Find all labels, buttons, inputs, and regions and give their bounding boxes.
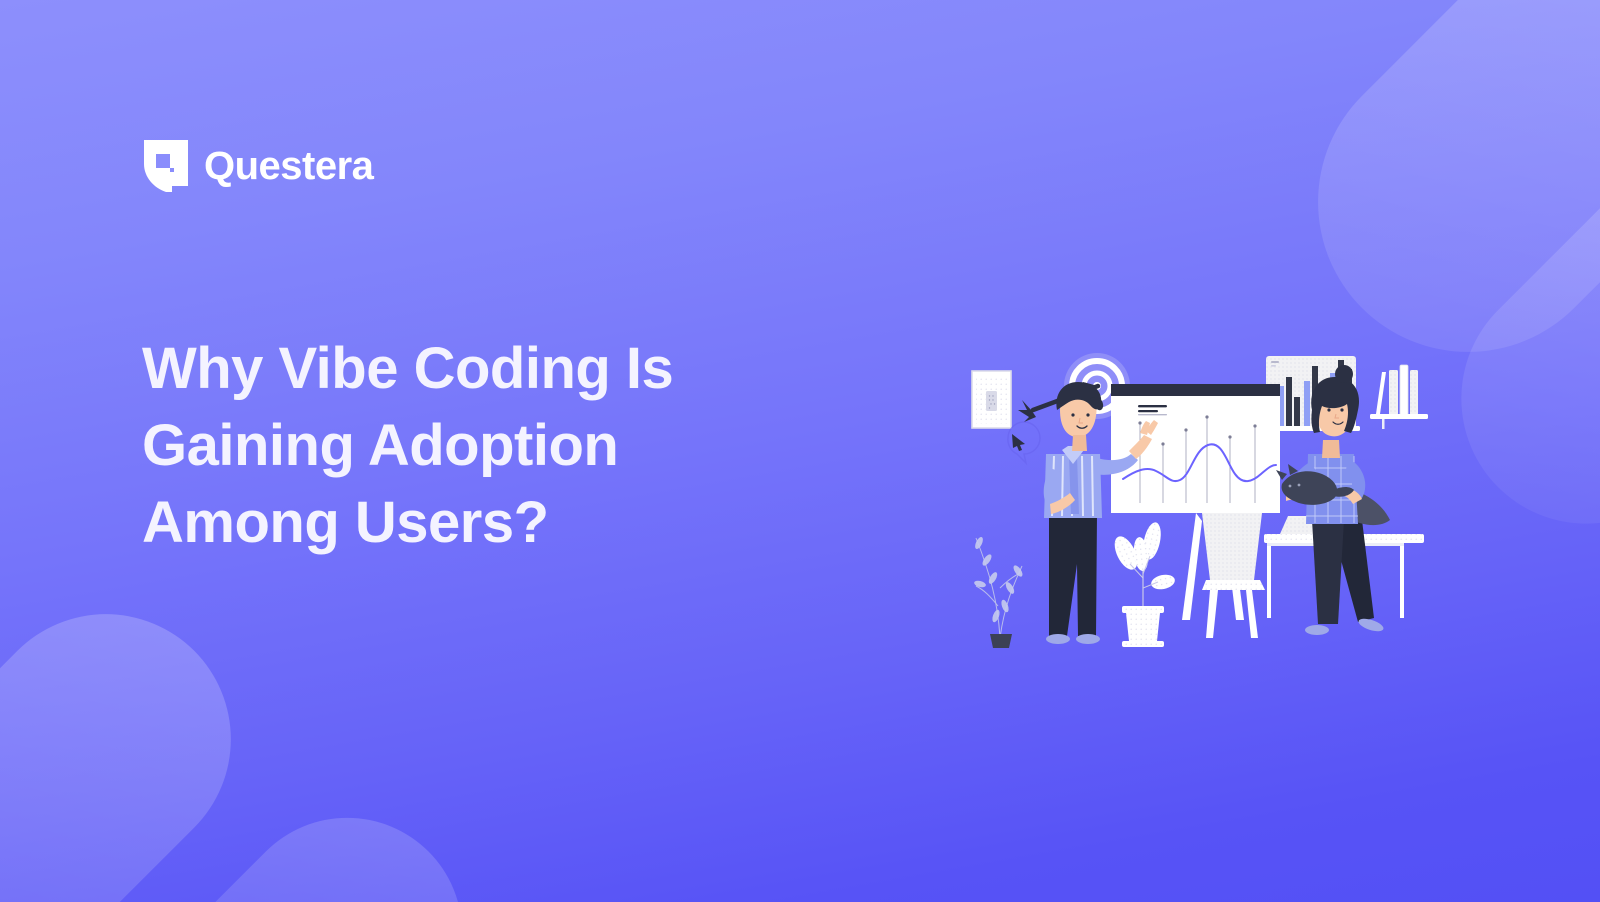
- desk-leg-right: [1400, 543, 1404, 618]
- board-title-line-2: [1138, 410, 1158, 412]
- decorative-shape-top-right-2: [1410, 95, 1600, 576]
- hero-banner: Questera Why Vibe Coding Is Gaining Adop…: [0, 0, 1600, 902]
- team-presenting-analytics-illustration: [930, 338, 1430, 648]
- board-title-line-3: [1138, 414, 1167, 415]
- woman-leg-front: [1312, 520, 1344, 624]
- desk-leg-left: [1267, 543, 1271, 618]
- decorative-shape-bottom-left-1: [0, 562, 283, 902]
- decorative-shape-bottom-left-2: [50, 770, 510, 902]
- page-title: Why Vibe Coding Is Gaining Adoption Amon…: [142, 330, 782, 561]
- man-shoe-left: [1046, 634, 1070, 644]
- shelf-with-binders: [1370, 365, 1428, 429]
- headline-line-3: Among Users?: [142, 484, 782, 561]
- office-chair: [1202, 513, 1265, 638]
- speech-bubble-arrow-icon: [1008, 422, 1040, 463]
- brand-name: Questera: [204, 146, 373, 186]
- branch-vase: [973, 536, 1024, 648]
- headline-line-2: Gaining Adoption: [142, 407, 782, 484]
- brand-logo[interactable]: Questera: [144, 140, 373, 192]
- man-shoe-right: [1076, 634, 1100, 644]
- man-trousers: [1049, 514, 1097, 636]
- wall-picture-frame-icon: [972, 371, 1011, 428]
- questera-shield-mark-icon: [144, 140, 188, 192]
- potted-plant: [1110, 521, 1176, 647]
- board-title-line-1: [1138, 405, 1167, 407]
- woman-shoe-left: [1305, 625, 1329, 635]
- woman-hair-bun: [1335, 365, 1353, 383]
- headline-line-1: Why Vibe Coding Is: [142, 330, 782, 407]
